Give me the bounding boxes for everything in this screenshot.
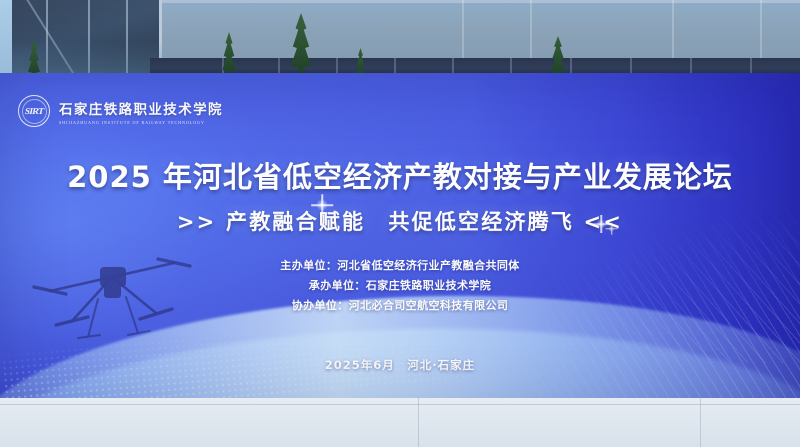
- floor-seam: [418, 398, 419, 447]
- floor-top-line: [0, 404, 800, 405]
- organizer-host: 主办单位：河北省低空经济行业产教融合共同体: [0, 256, 800, 276]
- photo-scene: SIRT 石家庄铁路职业技术学院 SHIJIAZHUANG INSTITUTE …: [0, 0, 800, 447]
- facade-top-edge: [148, 0, 800, 3]
- logo-text-block: 石家庄铁路职业技术学院 SHIJIAZHUANG INSTITUTE OF RA…: [59, 98, 223, 125]
- forum-subtitle: >> 产教融合赋能 共促低空经济腾飞 <<: [0, 206, 800, 236]
- organizer-coorganizer: 协办单位：河北必合司空航空科技有限公司: [0, 296, 800, 316]
- logo-mark-text: SIRT: [24, 106, 45, 116]
- logo-name-cn: 石家庄铁路职业技术学院: [59, 98, 223, 118]
- floor-surface: [0, 398, 800, 447]
- conference-backdrop-banner: SIRT 石家庄铁路职业技术学院 SHIJIAZHUANG INSTITUTE …: [0, 73, 800, 403]
- forum-title: 2025 年河北省低空经济产教对接与产业发展论坛: [0, 154, 800, 196]
- organizer-list: 主办单位：河北省低空经济行业产教融合共同体 承办单位：石家庄铁路职业技术学院 协…: [0, 256, 800, 316]
- floor-seam: [700, 398, 701, 447]
- organizer-undertaker: 承办单位：石家庄铁路职业技术学院: [0, 276, 800, 296]
- logo-name-en: SHIJIAZHUANG INSTITUTE OF RAILWAY TECHNO…: [59, 120, 223, 125]
- institute-logo: SIRT 石家庄铁路职业技术学院 SHIJIAZHUANG INSTITUTE …: [18, 95, 223, 127]
- logo-emblem-icon: SIRT: [18, 95, 50, 127]
- date-location-line: 2025年6月 河北·石家庄: [0, 357, 800, 373]
